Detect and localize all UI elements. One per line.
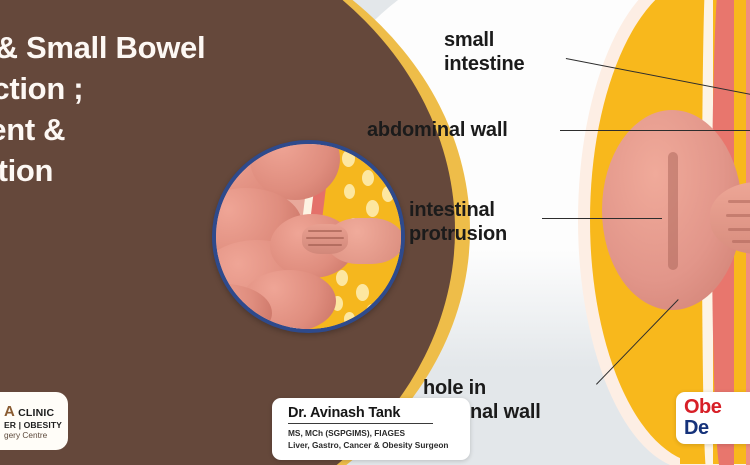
clinic-logo-line3: gery Centre	[4, 430, 62, 440]
inset-fold	[308, 244, 342, 246]
doctor-name: Dr. Avinash Tank	[288, 405, 470, 421]
obesity-logo-line1: Obe	[684, 397, 750, 417]
clinic-logo-card: A CLINIC ER | OBESITY gery Centre	[0, 392, 68, 450]
clinic-logo-clinic-word: CLINIC	[18, 407, 54, 419]
neck-fold	[728, 228, 750, 231]
obesity-logo-card: Obe De	[676, 392, 750, 444]
fat-cell	[366, 304, 378, 320]
label-hole-line1: hole in	[423, 376, 541, 400]
fat-cell	[342, 150, 355, 167]
label-small-intestine-line1: small	[444, 28, 524, 52]
doctor-info-card: Dr. Avinash Tank MS, MCh (SGPGIMS), FIAG…	[272, 398, 470, 460]
inset-fold	[308, 230, 342, 232]
inset-hernia-neck	[302, 224, 348, 254]
doctor-name-underline	[288, 423, 433, 424]
leader-line-intestinal-protrusion	[542, 218, 662, 219]
fat-cell	[336, 270, 348, 286]
fat-cell	[362, 170, 374, 186]
fat-cell	[356, 284, 369, 301]
infographic-canvas: ia & Small Bowel ruction ; ment & ention	[0, 0, 750, 465]
inset-content	[216, 144, 401, 329]
doctor-degrees: MS, MCh (SGPGIMS), FIAGES	[288, 428, 470, 440]
fat-cell	[366, 200, 379, 217]
label-intestinal-protrusion-line2: protrusion	[409, 222, 507, 246]
neck-fold	[726, 214, 750, 217]
neck-fold	[732, 240, 750, 243]
doctor-specialty: Liver, Gastro, Cancer & Obesity Surgeon	[288, 440, 470, 452]
bulge-cleft	[668, 152, 678, 270]
label-small-intestine: small intestine	[444, 28, 524, 77]
fat-cell	[344, 312, 355, 326]
fat-cell	[344, 184, 355, 199]
clinic-logo-line2: ER | OBESITY	[4, 420, 62, 430]
fat-cell	[382, 186, 394, 202]
fat-cell	[374, 158, 385, 173]
label-intestinal-protrusion-line1: intestinal	[409, 198, 507, 222]
label-intestinal-protrusion: intestinal protrusion	[409, 198, 507, 247]
label-abdominal-wall: abdominal wall	[367, 118, 508, 142]
neck-fold	[728, 200, 750, 203]
magnified-inset-circle	[212, 140, 405, 333]
title-line-1: ia & Small Bowel	[0, 28, 362, 69]
inset-fold	[306, 237, 344, 239]
label-small-intestine-line2: intestine	[444, 52, 524, 76]
clinic-logo-line1: A CLINIC	[4, 403, 62, 420]
obesity-logo-line2: De	[684, 418, 750, 438]
clinic-logo-text: A CLINIC ER | OBESITY gery Centre	[4, 403, 62, 440]
leader-line-abdominal-wall	[560, 130, 750, 131]
clinic-logo-mark: A	[4, 403, 15, 420]
title-line-2: ruction ;	[0, 69, 362, 110]
